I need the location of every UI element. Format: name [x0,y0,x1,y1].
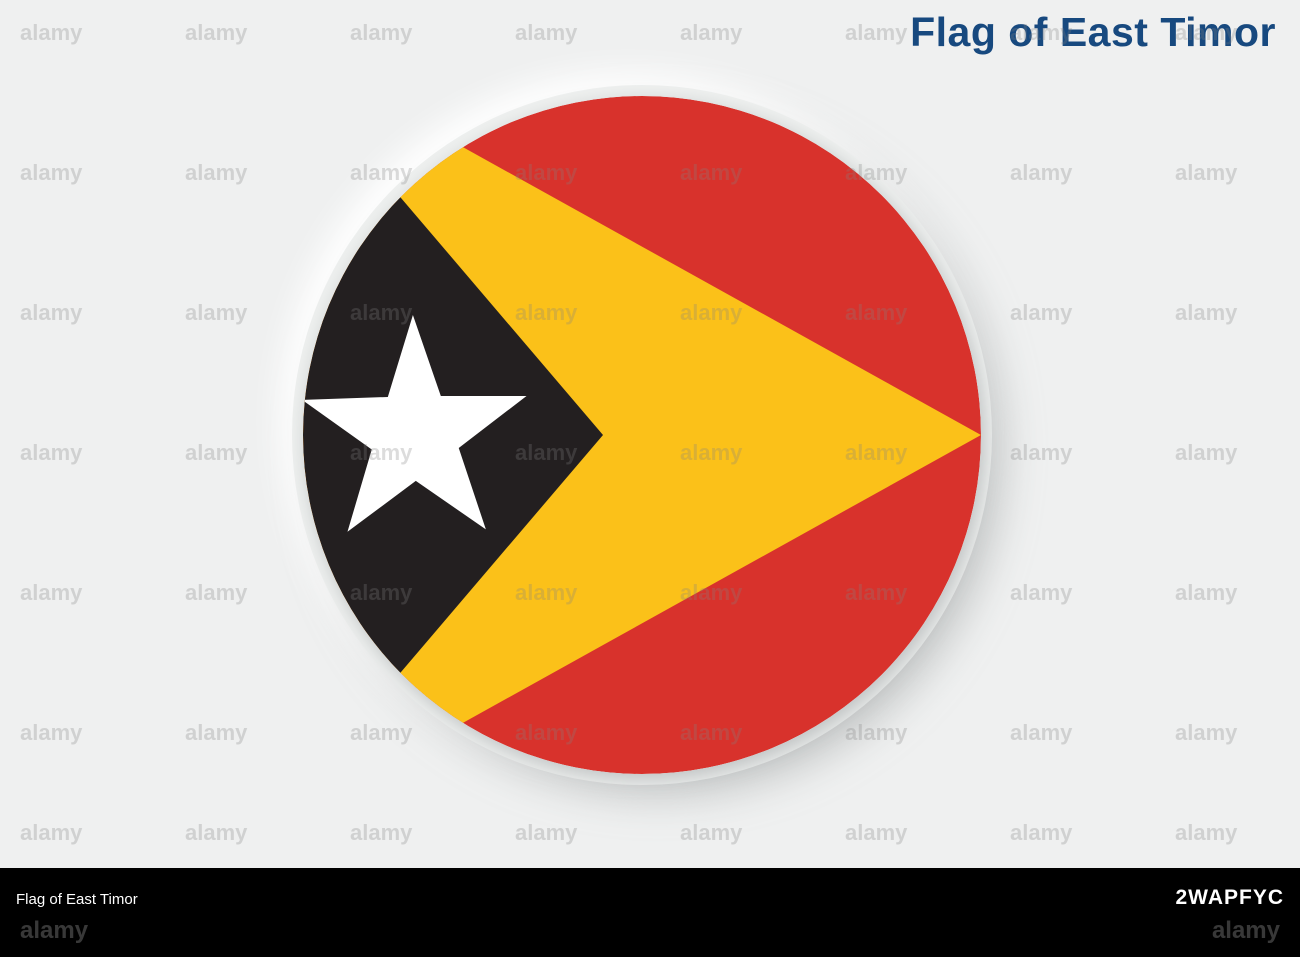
watermark-tile: alamy [185,720,247,746]
watermark-tile: alamy [1010,300,1072,326]
watermark-tile: alamy [1175,160,1237,186]
watermark-tile: alamy [1010,720,1072,746]
watermark-tile: alamy [1175,720,1237,746]
footer-brand-left: alamy [20,917,88,945]
image-canvas: Flag of East Timor alamyalamyalamyalamya… [0,0,1300,868]
watermark-tile: alamy [515,820,577,846]
page-title: Flag of East Timor [910,12,1276,53]
watermark-tile: alamy [185,300,247,326]
watermark-tile: alamy [845,820,907,846]
footer-image-code: 2WAPFYC [1175,886,1284,910]
watermark-tile: alamy [185,440,247,466]
watermark-tile: alamy [515,20,577,46]
footer-brand-right: alamy [1212,917,1280,945]
screenshot-root: Flag of East Timor alamyalamyalamyalamya… [0,0,1300,957]
watermark-tile: alamy [845,720,907,746]
watermark-tile: alamy [20,20,82,46]
footer-caption: Flag of East Timor [16,888,138,911]
east-timor-flag-disc [303,96,981,774]
watermark-tile: alamy [1175,580,1237,606]
watermark-tile: alamy [185,580,247,606]
watermark-tile: alamy [1010,580,1072,606]
watermark-tile: alamy [1175,820,1237,846]
watermark-tile: alamy [1010,820,1072,846]
watermark-tile: alamy [350,20,412,46]
watermark-tile: alamy [1175,440,1237,466]
watermark-tile: alamy [1010,160,1072,186]
watermark-tile: alamy [1010,440,1072,466]
watermark-tile: alamy [20,820,82,846]
watermark-tile: alamy [20,440,82,466]
watermark-tile: alamy [350,720,412,746]
watermark-tile: alamy [680,20,742,46]
watermark-tile: alamy [1175,300,1237,326]
watermark-tile: alamy [350,820,412,846]
footer-bar: Flag of East Timor 2WAPFYC alamy alamy [0,868,1300,957]
watermark-tile: alamy [680,820,742,846]
watermark-tile: alamy [185,820,247,846]
watermark-tile: alamy [185,160,247,186]
watermark-tile: alamy [20,580,82,606]
watermark-tile: alamy [20,300,82,326]
watermark-tile: alamy [20,720,82,746]
watermark-tile: alamy [20,160,82,186]
watermark-tile: alamy [845,20,907,46]
watermark-tile: alamy [185,20,247,46]
